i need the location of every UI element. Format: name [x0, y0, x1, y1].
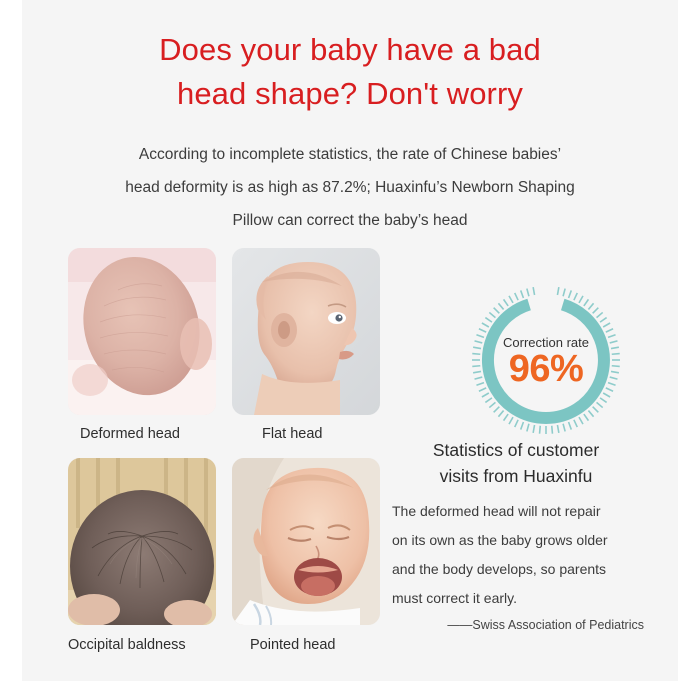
- stats-body-line-2: on its own as the baby grows older: [392, 526, 644, 555]
- stats-body: The deformed head will not repair on its…: [392, 497, 644, 613]
- intro-line-1: According to incomplete statistics, the …: [0, 138, 700, 171]
- page-title: Does your baby have a bad head shape? Do…: [0, 28, 700, 116]
- stats-heading-line-2: visits from Huaxinfu: [385, 463, 647, 489]
- caption-flat-head: Flat head: [262, 426, 322, 442]
- intro-line-3: Pillow can correct the baby’s head: [0, 204, 700, 237]
- correction-rate-badge: Correction rate 96%: [467, 284, 625, 436]
- stats-body-line-3: and the body develops, so parents: [392, 555, 644, 584]
- badge-value: 96%: [467, 348, 625, 391]
- intro-line-2: head deformity is as high as 87.2%; Huax…: [0, 171, 700, 204]
- pointed-head-image: [232, 458, 380, 625]
- occipital-baldness-image: [68, 458, 216, 625]
- stats-heading-line-1: Statistics of customer: [385, 437, 647, 463]
- headline-line-1: Does your baby have a bad: [0, 28, 700, 72]
- stats-body-line-4: must correct it early.: [392, 584, 644, 613]
- stats-body-line-1: The deformed head will not repair: [392, 497, 644, 526]
- caption-pointed-head: Pointed head: [250, 637, 335, 653]
- caption-deformed-head: Deformed head: [80, 426, 180, 442]
- infographic-page: Does your baby have a bad head shape? Do…: [0, 0, 700, 700]
- deformed-head-image: [68, 248, 216, 415]
- photo-pointed-head: [232, 458, 380, 625]
- intro-paragraph: According to incomplete statistics, the …: [0, 138, 700, 237]
- stats-heading: Statistics of customer visits from Huaxi…: [385, 437, 647, 489]
- photo-deformed-head: [68, 248, 216, 415]
- headline-line-2: head shape? Don't worry: [0, 72, 700, 116]
- attribution: ——Swiss Association of Pediatrics: [392, 618, 644, 632]
- flat-head-image: [232, 248, 380, 415]
- photo-occipital-baldness: [68, 458, 216, 625]
- photo-flat-head: [232, 248, 380, 415]
- caption-occipital-baldness: Occipital baldness: [68, 637, 186, 653]
